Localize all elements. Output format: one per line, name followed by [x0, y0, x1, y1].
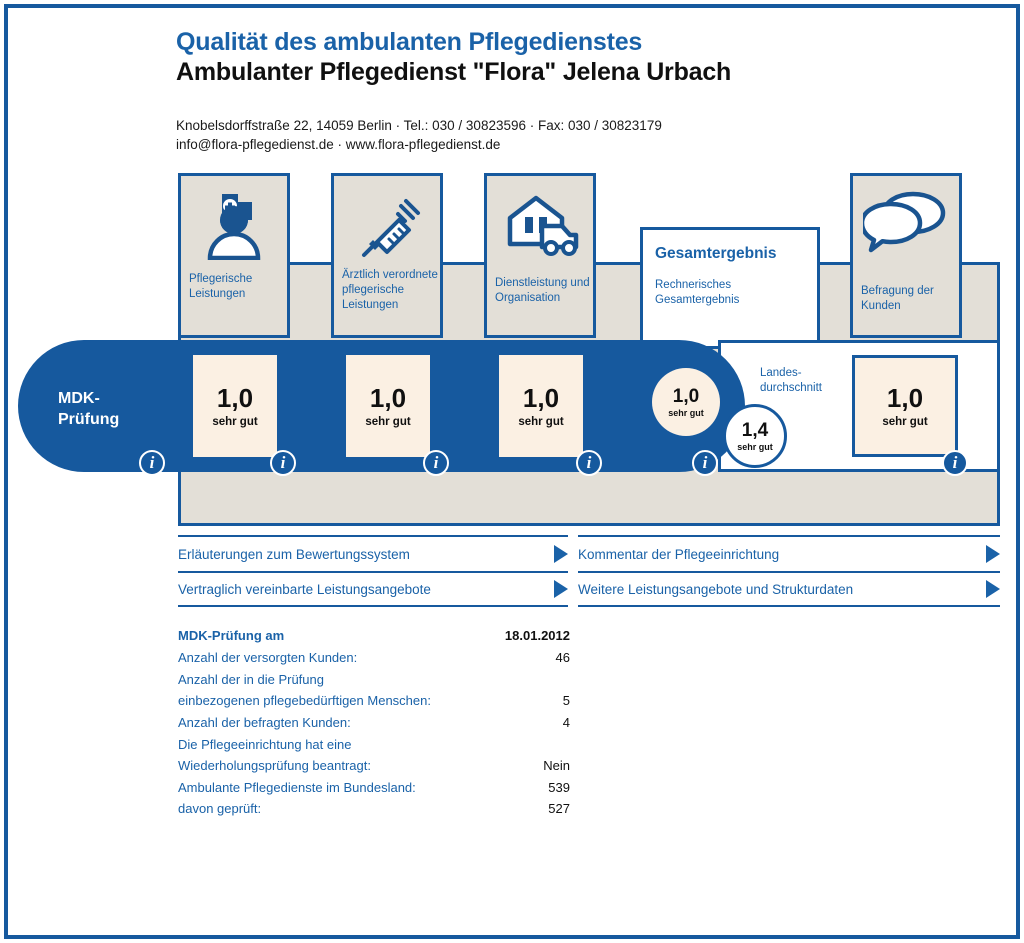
score-value: 1,0	[217, 384, 253, 412]
score-circle-gesamtergebnis[interactable]: 1,0 sehr gut	[652, 368, 720, 436]
detail-value: 527	[534, 798, 570, 819]
score-box-dienstleistung-organisation[interactable]: 1,0 sehr gut	[499, 355, 583, 457]
category-card-befragung-der-kunden[interactable]: Befragung der Kunden	[850, 173, 962, 338]
score-rating: sehr gut	[212, 416, 257, 428]
arrow-right-icon	[554, 545, 568, 563]
mdk-pruefung-label: MDK- Prüfung	[58, 388, 119, 430]
contact-web-line: info@flora-pflegedienst.de · www.flora-p…	[176, 137, 500, 152]
category-label: Dienstleistung und Organisation	[495, 276, 593, 306]
info-glyph: i	[703, 453, 708, 473]
info-icon-befragung-der-kunden[interactable]: i	[942, 450, 968, 476]
detail-label: Anzahl der versorgten Kunden:	[178, 647, 357, 668]
score-value: 1,4	[742, 421, 768, 441]
detail-label: MDK-Prüfung am	[178, 625, 284, 646]
category-label: Befragung der Kunden	[861, 284, 959, 314]
score-rating: sehr gut	[518, 416, 563, 428]
link-weitere-leistungsangebote-strukturdaten[interactable]: Weitere Leistungsangebote und Strukturda…	[578, 571, 1000, 607]
category-label: Ärztlich verordnete pflegerische Leistun…	[342, 268, 440, 313]
table-row: Ambulante Pflegedienste im Bundesland: 5…	[178, 777, 570, 798]
score-value: 1,0	[370, 384, 406, 412]
speech-bubbles-icon	[853, 190, 959, 254]
link-label: Kommentar der Pflegeeinrichtung	[578, 547, 779, 562]
category-card-aerztlich-verordnete-leistungen[interactable]: Ärztlich verordnete pflegerische Leistun…	[331, 173, 443, 338]
detail-label: Die Pflegeeinrichtung hat eine Wiederhol…	[178, 734, 371, 776]
table-row: Anzahl der versorgten Kunden: 46	[178, 647, 570, 668]
info-icon-aerztlich-verordnete-leistungen[interactable]: i	[423, 450, 449, 476]
score-value: 1,0	[523, 384, 559, 412]
detail-label: Anzahl der befragten Kunden:	[178, 712, 351, 733]
info-glyph: i	[953, 453, 958, 473]
score-box-aerztlich-verordnete-leistungen[interactable]: 1,0 sehr gut	[346, 355, 430, 457]
detail-value: Nein	[529, 755, 570, 776]
table-row: Die Pflegeeinrichtung hat eine Wiederhol…	[178, 734, 570, 776]
detail-value: 5	[549, 690, 570, 711]
detail-value: 46	[542, 647, 570, 668]
detail-label: Anzahl der in die Prüfung einbezogenen p…	[178, 669, 431, 711]
link-erlaeuterungen-bewertungssystem[interactable]: Erläuterungen zum Bewertungssystem	[178, 535, 568, 571]
facility-name: Ambulanter Pflegedienst "Flora" Jelena U…	[176, 58, 731, 87]
table-row: Anzahl der in die Prüfung einbezogenen p…	[178, 669, 570, 711]
contact-address-line: Knobelsdorffstraße 22, 14059 Berlin · Te…	[176, 118, 662, 133]
link-label: Vertraglich vereinbarte Leistungsangebot…	[178, 582, 431, 597]
info-icon-pflegerische-leistungen[interactable]: i	[270, 450, 296, 476]
arrow-right-icon	[554, 580, 568, 598]
info-glyph: i	[150, 453, 155, 473]
score-rating: sehr gut	[365, 416, 410, 428]
info-icon-gesamtergebnis[interactable]: i	[692, 450, 718, 476]
detail-label: Ambulante Pflegedienste im Bundesland:	[178, 777, 416, 798]
arrow-right-icon	[986, 545, 1000, 563]
syringe-icon	[334, 194, 440, 260]
landesdurchschnitt-label: Landes- durchschnitt	[760, 366, 822, 396]
arrow-right-icon	[986, 580, 1000, 598]
info-glyph: i	[587, 453, 592, 473]
info-icon-mdk-pruefung[interactable]: i	[139, 450, 165, 476]
inspection-details-table: MDK-Prüfung am 18.01.2012 Anzahl der ver…	[178, 625, 570, 820]
overall-result-subtitle: Rechnerisches Gesamtergebnis	[655, 278, 739, 308]
detail-value: 4	[549, 712, 570, 733]
score-box-befragung-der-kunden[interactable]: 1,0 sehr gut	[852, 355, 958, 457]
score-value: 1,0	[673, 387, 699, 407]
category-card-pflegerische-leistungen[interactable]: Pflegerische Leistungen	[178, 173, 290, 338]
score-circle-landesdurchschnitt[interactable]: 1,4 sehr gut	[723, 404, 787, 468]
house-truck-icon	[487, 192, 593, 258]
category-label: Pflegerische Leistungen	[189, 272, 287, 302]
info-glyph: i	[434, 453, 439, 473]
table-row: MDK-Prüfung am 18.01.2012	[178, 625, 570, 646]
score-rating: sehr gut	[737, 442, 773, 452]
category-card-dienstleistung-organisation[interactable]: Dienstleistung und Organisation	[484, 173, 596, 338]
info-icon-dienstleistung-organisation[interactable]: i	[576, 450, 602, 476]
link-label: Weitere Leistungsangebote und Strukturda…	[578, 582, 853, 597]
page-title: Qualität des ambulanten Pflegedienstes	[176, 28, 642, 57]
table-row: davon geprüft: 527	[178, 798, 570, 819]
quality-report-page: Qualität des ambulanten Pflegedienstes A…	[0, 0, 1024, 943]
detail-value: 539	[534, 777, 570, 798]
score-rating: sehr gut	[668, 408, 704, 418]
info-glyph: i	[281, 453, 286, 473]
nurse-icon	[181, 190, 287, 260]
overall-result-title: Gesamtergebnis	[655, 245, 776, 263]
table-row: Anzahl der befragten Kunden: 4	[178, 712, 570, 733]
link-label: Erläuterungen zum Bewertungssystem	[178, 547, 410, 562]
score-value: 1,0	[887, 384, 923, 412]
detail-label: davon geprüft:	[178, 798, 261, 819]
overall-result-card[interactable]: Gesamtergebnis Rechnerisches Gesamtergeb…	[640, 227, 820, 349]
score-rating: sehr gut	[882, 416, 927, 428]
score-box-pflegerische-leistungen[interactable]: 1,0 sehr gut	[193, 355, 277, 457]
detail-value: 18.01.2012	[491, 625, 570, 646]
link-vertraglich-vereinbarte-leistungsangebote[interactable]: Vertraglich vereinbarte Leistungsangebot…	[178, 571, 568, 607]
link-kommentar-pflegeeinrichtung[interactable]: Kommentar der Pflegeeinrichtung	[578, 535, 1000, 571]
